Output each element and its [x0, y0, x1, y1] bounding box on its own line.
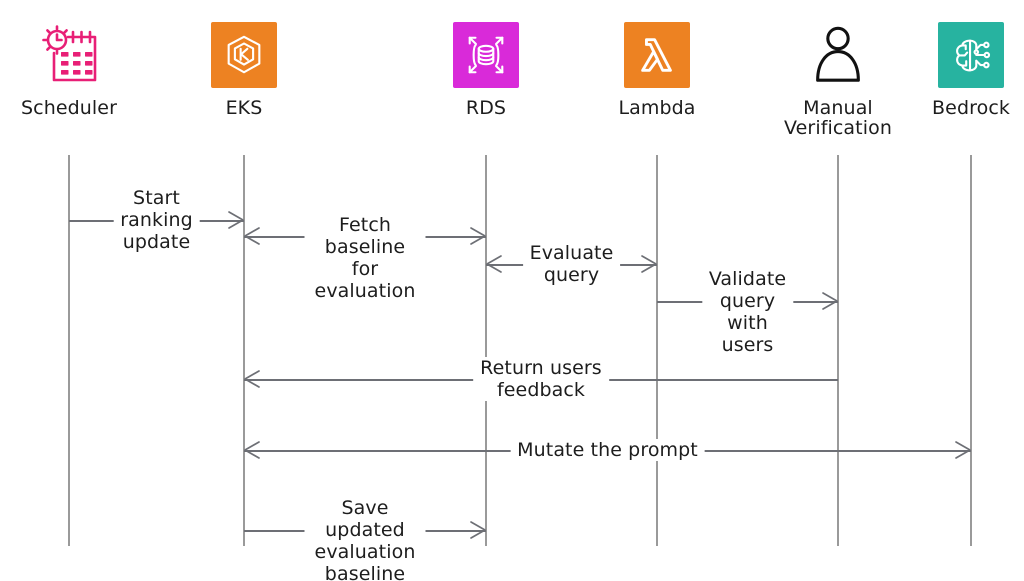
sequence-diagram-canvas: SchedulerEKSRDSLambdaManual Verification… [0, 0, 1024, 581]
arrow-head-right [640, 255, 658, 273]
calendar-clock-icon [36, 22, 102, 88]
participant-label-manual_verification: Manual Verification [784, 98, 892, 138]
database-rds-icon [453, 22, 519, 88]
participant-scheduler[interactable]: Scheduler [0, 0, 144, 150]
lifeline-manual_verification [837, 155, 839, 546]
participant-rds[interactable]: RDS [411, 0, 561, 150]
brain-circuit-bedrock-icon [938, 22, 1004, 88]
message-label-m4: Validate query with users [702, 268, 793, 357]
lambda-icon [624, 22, 690, 88]
message-label-m2: Fetch baseline for evaluation [305, 214, 426, 303]
lifeline-lambda [656, 155, 658, 546]
actor-person-icon [805, 22, 871, 88]
participant-label-rds: RDS [466, 98, 506, 118]
arrow-head-right [821, 292, 839, 310]
message-label-m1: Start ranking update [113, 187, 200, 254]
arrow-head-left [243, 227, 261, 245]
participant-label-bedrock: Bedrock [932, 98, 1010, 118]
lifeline-bedrock [970, 155, 972, 546]
arrow-head-right [469, 227, 487, 245]
arrow-head-right [469, 521, 487, 539]
lifeline-scheduler [68, 155, 70, 546]
kubernetes-eks-icon [211, 22, 277, 88]
message-label-m5: Return users feedback [473, 357, 609, 401]
participant-label-lambda: Lambda [618, 98, 695, 118]
participant-label-scheduler: Scheduler [21, 98, 117, 118]
message-label-m6: Mutate the prompt [510, 439, 705, 461]
arrow-head-left [485, 255, 503, 273]
participant-manual_verification[interactable]: Manual Verification [763, 0, 913, 150]
message-label-m3: Evaluate query [523, 242, 621, 286]
lifeline-rds [485, 155, 487, 546]
arrow-head-left [243, 441, 261, 459]
participant-lambda[interactable]: Lambda [582, 0, 732, 150]
message-label-m7: Save updated evaluation baseline [305, 497, 426, 581]
participant-label-eks: EKS [226, 98, 263, 118]
arrow-head-right [954, 441, 972, 459]
arrow-head-left [243, 370, 261, 388]
participant-eks[interactable]: EKS [169, 0, 319, 150]
participant-bedrock[interactable]: Bedrock [896, 0, 1024, 150]
